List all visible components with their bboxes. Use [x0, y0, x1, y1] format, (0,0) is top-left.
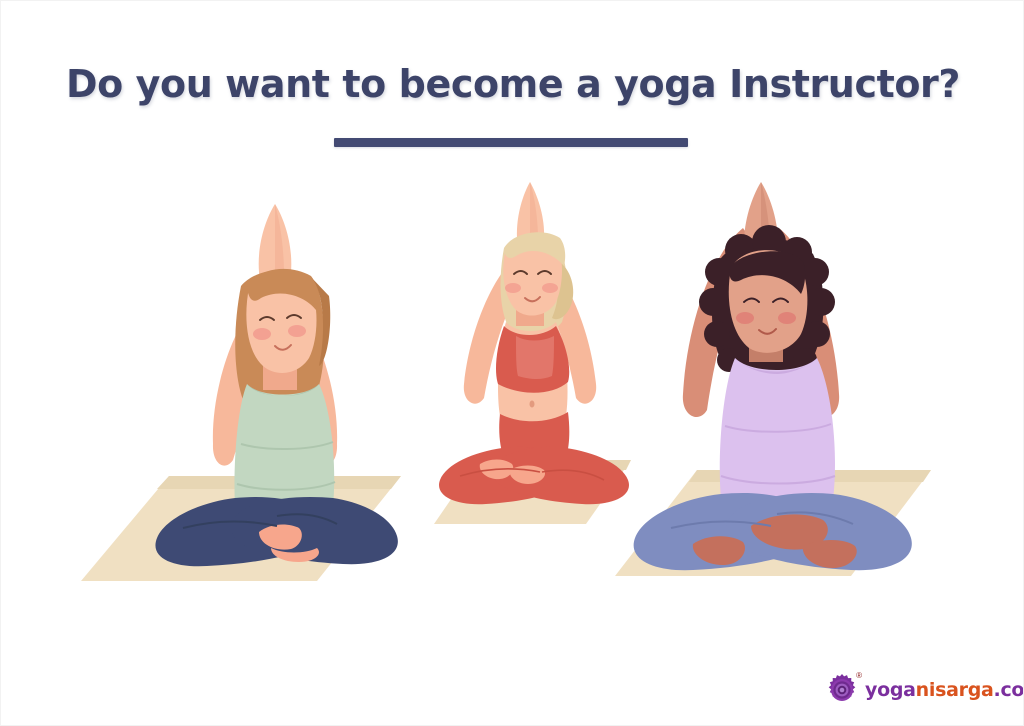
title-underline-bar [334, 138, 688, 147]
tank-top [235, 384, 335, 517]
yoga-figure-right [601, 176, 941, 616]
blush-right [288, 325, 306, 337]
site-logo[interactable]: ® yoganisarga.com [825, 673, 1024, 707]
registered-trademark-symbol: ® [856, 672, 862, 680]
headline-block: Do you want to become a yoga Instructor? [1, 63, 1024, 107]
blush-left [253, 328, 271, 340]
logo-wordmark: yoganisarga.com [865, 681, 1024, 700]
tank-top [720, 358, 835, 514]
logo-text-yoga: yoga [865, 679, 916, 701]
logo-text-domain: .com [994, 679, 1024, 701]
navel [530, 401, 535, 408]
blush-right [542, 283, 558, 293]
yoga-figure-left [61, 176, 401, 616]
mandala-chakra-icon: ® [825, 673, 859, 707]
blush-right [778, 312, 796, 324]
page-title: Do you want to become a yoga Instructor? [1, 63, 1024, 107]
yoga-illustration [1, 176, 1024, 616]
logo-text-nisarga: nisarga [916, 679, 994, 701]
blush-left [505, 283, 521, 293]
blush-left [736, 312, 754, 324]
promo-banner: Do you want to become a yoga Instructor? [0, 0, 1024, 726]
